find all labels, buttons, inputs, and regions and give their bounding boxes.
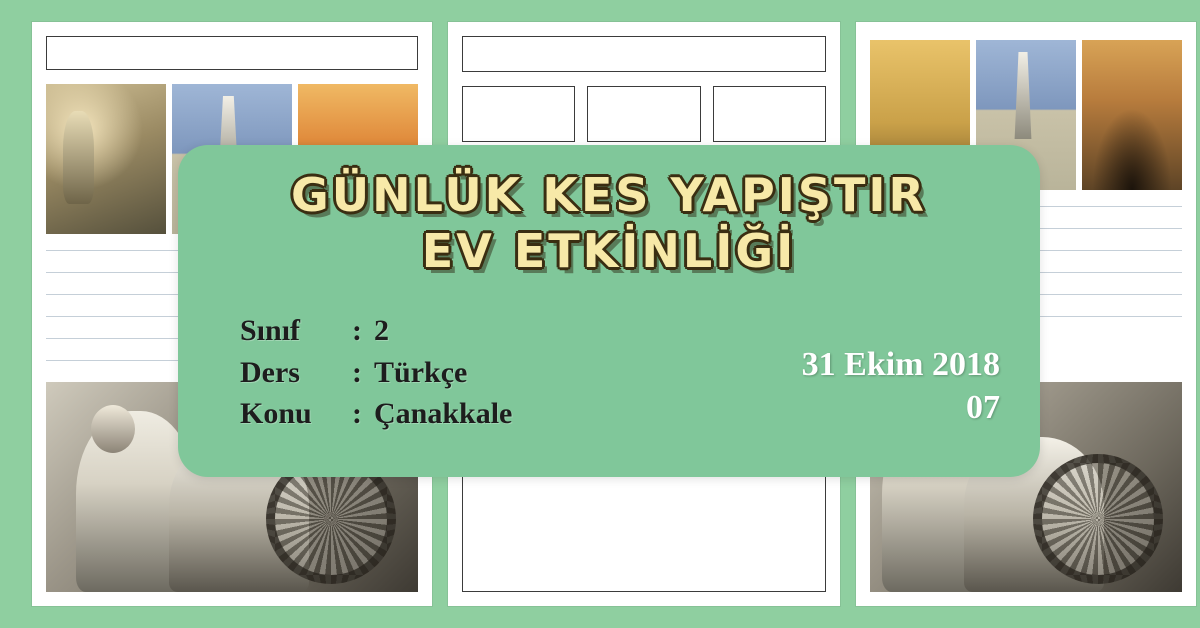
info-row-ders: Ders : Türkçe — [240, 352, 512, 393]
title-line-1: GÜNLÜK KES YAPIŞTIR — [214, 171, 1004, 221]
date-block: 31 Ekim 2018 07 — [802, 344, 1000, 429]
header-name-box — [462, 36, 826, 72]
title-line-2: EV ETKİNLİĞİ — [214, 227, 1004, 277]
cut-paste-box — [462, 86, 575, 142]
info-label-konu: Konu — [240, 393, 352, 434]
info-value-ders: Türkçe — [374, 352, 467, 393]
info-row-sinif: Sınıf : 2 — [240, 310, 512, 351]
info-colon-ders: : — [352, 352, 374, 393]
info-value-sinif: 2 — [374, 310, 389, 351]
sheet-number: 07 — [802, 387, 1000, 430]
cut-paste-boxes-row — [462, 86, 826, 142]
info-colon-konu: : — [352, 393, 374, 434]
cut-paste-box — [587, 86, 700, 142]
photo-figure-head — [91, 405, 135, 453]
info-label-sinif: Sınıf — [240, 310, 352, 351]
info-list: Sınıf : 2 Ders : Türkçe Konu : Çanakkale — [240, 310, 512, 434]
info-row-konu: Konu : Çanakkale — [240, 393, 512, 434]
overlay-card: GÜNLÜK KES YAPIŞTIR EV ETKİNLİĞİ Sınıf :… — [178, 145, 1040, 477]
charge-photo — [1082, 40, 1182, 190]
soldiers-photo — [46, 84, 166, 234]
screenshot-root: GÜNLÜK KES YAPIŞTIR EV ETKİNLİĞİ Sınıf :… — [0, 0, 1200, 628]
info-value-konu: Çanakkale — [374, 393, 512, 434]
info-label-ders: Ders — [240, 352, 352, 393]
title-block: GÜNLÜK KES YAPIŞTIR EV ETKİNLİĞİ — [214, 171, 1004, 276]
cart-wheel — [1033, 454, 1163, 584]
date-text: 31 Ekim 2018 — [802, 344, 1000, 387]
cut-paste-box — [713, 86, 826, 142]
header-name-box — [46, 36, 418, 70]
info-colon-sinif: : — [352, 310, 374, 351]
